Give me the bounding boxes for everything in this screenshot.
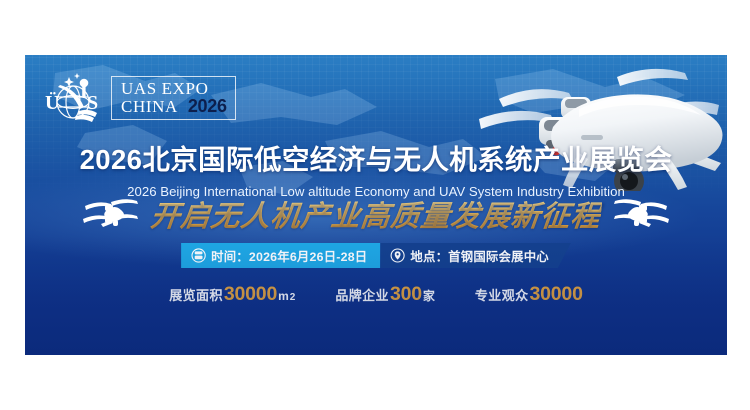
exhibition-banner: Ü S UAS EXPO CHINA 2026 2026北京国际低空经济与无人机… <box>25 55 727 355</box>
headline-block: 2026北京国际低空经济与无人机系统产业展览会 2026 Beijing Int… <box>25 137 727 199</box>
event-logo: Ü S UAS EXPO CHINA 2026 <box>43 69 236 127</box>
svg-text:S: S <box>87 92 98 114</box>
logo-line2: CHINA <box>121 98 178 115</box>
drone-icon <box>81 197 143 231</box>
page-title-cn: 2026北京国际低空经济与无人机系统产业展览会 <box>25 137 727 177</box>
screenshot-canvas: Ü S UAS EXPO CHINA 2026 2026北京国际低空经济与无人机… <box>0 0 750 410</box>
drone-icon <box>609 197 671 231</box>
logo-text-box: UAS EXPO CHINA 2026 <box>111 76 236 121</box>
logo-line1: UAS EXPO <box>121 80 227 97</box>
logo-year: 2026 <box>188 97 227 115</box>
slogan-text: 开启无人机产业高质量发展新征程 <box>149 193 603 235</box>
globe-satellite-dish-icon: Ü S <box>43 69 105 127</box>
svg-text:Ü: Ü <box>45 91 59 114</box>
bottom-vignette <box>25 235 727 355</box>
slogan-row: 开启无人机产业高质量发展新征程 <box>25 193 727 235</box>
